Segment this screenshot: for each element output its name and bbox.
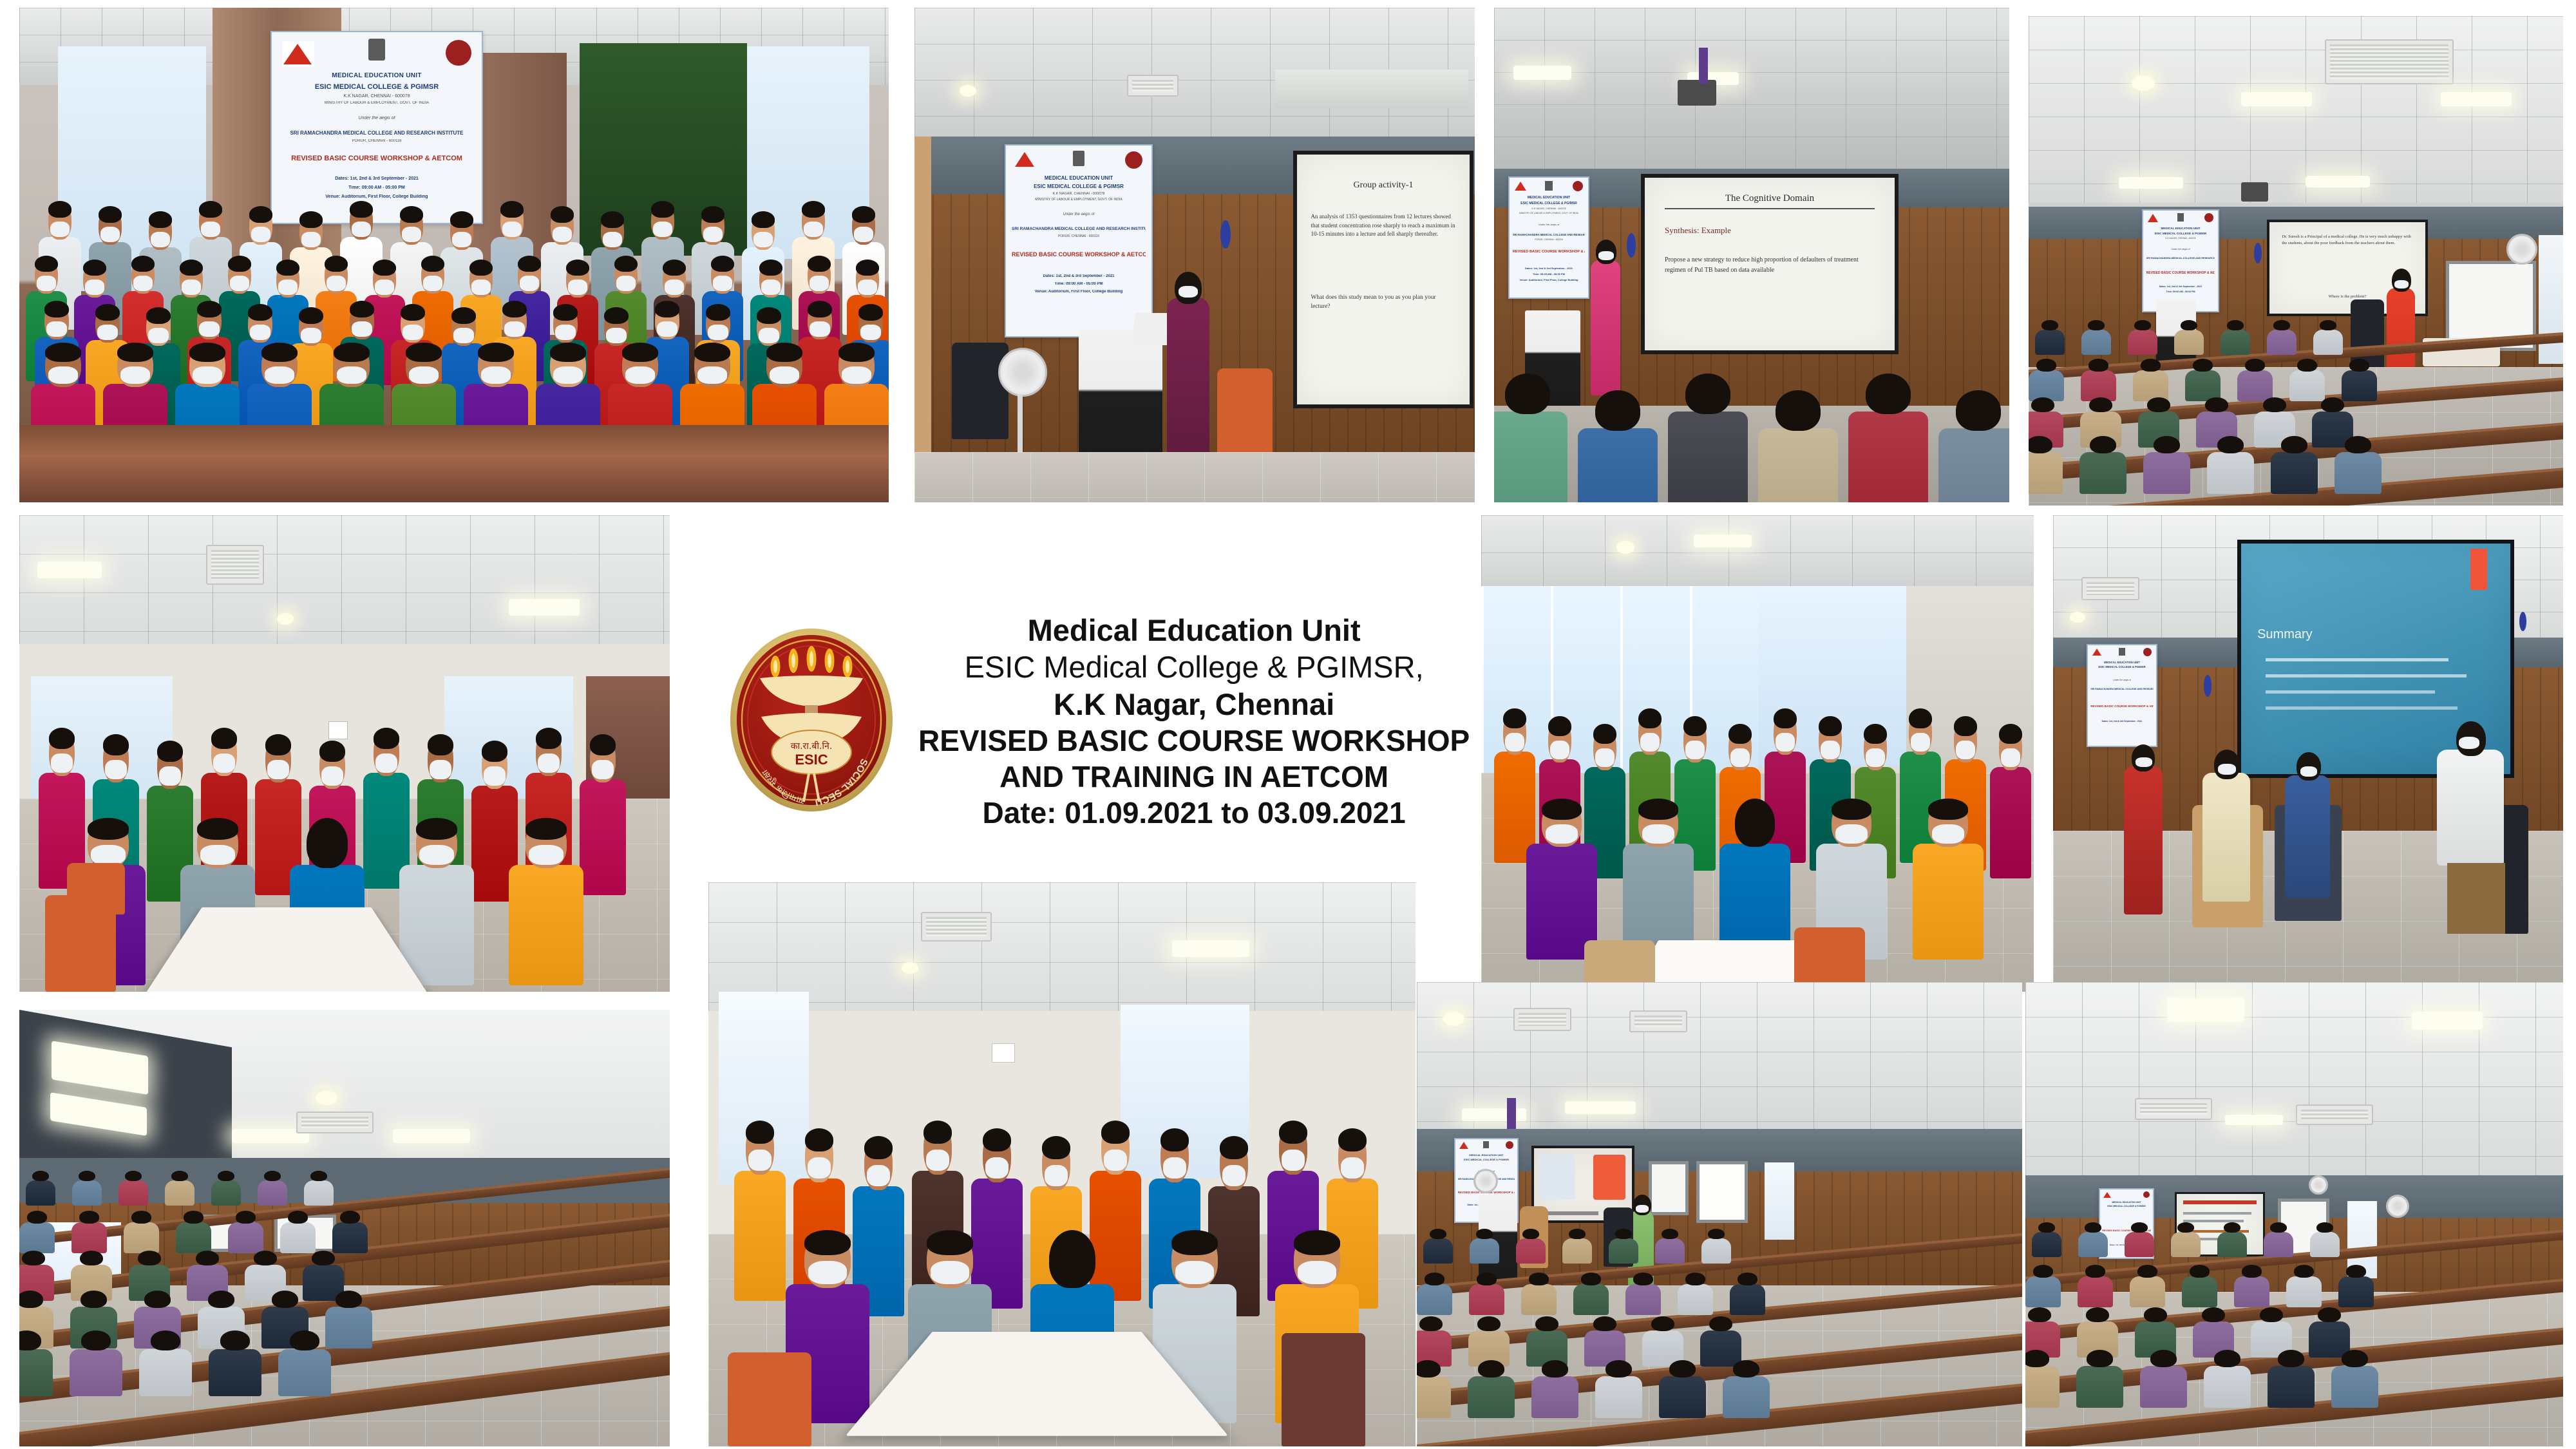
slide-question: What does this study mean to you as you … xyxy=(1311,293,1455,312)
person-head xyxy=(290,1331,319,1350)
face-mask xyxy=(520,276,538,290)
person-head xyxy=(2087,1350,2113,1367)
slide-body: An analysis of 1353 questionnaires from … xyxy=(1311,213,1455,239)
face-mask xyxy=(250,325,270,340)
face-mask xyxy=(538,753,559,773)
banner2-venue: Venue: Auditorium, First Floor, College … xyxy=(1012,290,1146,294)
person-head xyxy=(220,1331,250,1350)
person-figure xyxy=(2140,1366,2187,1408)
person-head xyxy=(1522,1229,1539,1239)
person-hair xyxy=(469,260,493,276)
person-figure xyxy=(2185,370,2221,401)
face-mask xyxy=(860,325,880,340)
person-head xyxy=(1615,1229,1632,1239)
banner3-dates: Dates: 1st, 2nd & 3rd September - 2021 xyxy=(1513,267,1585,270)
face-mask xyxy=(301,232,321,247)
banner2-org4: MINISTRY OF LABOUR & EMPLOYMENT, GOVT. O… xyxy=(1012,198,1146,202)
person-hair xyxy=(265,734,291,755)
person-hair xyxy=(1819,716,1842,736)
photo-small-group-discussion-2 xyxy=(1481,515,2034,992)
person-head xyxy=(2090,436,2116,453)
page-title: Medical Education Unit ESIC Medical Coll… xyxy=(918,612,1470,831)
person-figure xyxy=(2342,370,2377,401)
person-figure xyxy=(1469,1284,1504,1315)
person-head xyxy=(1956,390,2000,431)
person-head xyxy=(27,1211,47,1224)
person-head xyxy=(2316,1222,2333,1233)
person-hair xyxy=(103,734,129,755)
face-mask xyxy=(251,227,270,242)
person-hair xyxy=(428,734,453,755)
face-mask xyxy=(201,222,220,237)
face-mask xyxy=(375,279,393,294)
person-head xyxy=(2321,397,2344,412)
person-figure xyxy=(19,1349,53,1396)
person-head xyxy=(2036,359,2056,372)
person-head xyxy=(2342,1350,2368,1367)
person-head xyxy=(208,1291,234,1308)
face-mask xyxy=(708,325,728,340)
person-figure xyxy=(2313,330,2343,355)
banner2-time: Time: 09:00 AM - 05:00 PM xyxy=(1012,282,1146,286)
title-panel: का.रा.बी.नि. ESIC SOCIAL SECURITY सामाजि… xyxy=(715,560,1475,882)
person-head xyxy=(2193,359,2213,372)
title-line-3: K.K Nagar, Chennai xyxy=(918,686,1470,723)
banner6-org1: MEDICAL EDUCATION UNIT xyxy=(1458,1153,1515,1157)
title-line-4: REVISED BASIC COURSE WORKSHOP xyxy=(918,723,1470,759)
person-head xyxy=(1866,374,1910,414)
person-head xyxy=(2086,1307,2109,1322)
face-mask xyxy=(453,328,473,343)
person-hair xyxy=(852,206,876,223)
person-hair xyxy=(746,1121,775,1144)
person-figure xyxy=(2171,1232,2201,1257)
person-figure xyxy=(2331,1366,2378,1408)
face-mask xyxy=(133,276,152,290)
person-head xyxy=(236,1211,256,1224)
face-mask xyxy=(375,753,397,773)
person-hair xyxy=(95,304,120,321)
face-mask xyxy=(808,1261,847,1284)
person-figure xyxy=(2078,1276,2113,1307)
person-hair xyxy=(802,201,826,218)
person-head xyxy=(1529,1273,1549,1285)
face-mask xyxy=(858,279,876,294)
face-mask xyxy=(697,366,727,384)
person-head xyxy=(310,1171,327,1181)
face-mask xyxy=(854,227,873,242)
photo-small-group-discussion-1 xyxy=(19,515,670,992)
person-figure xyxy=(2237,370,2273,401)
person-head xyxy=(2270,1222,2287,1233)
person-hair xyxy=(421,256,444,272)
person-hair xyxy=(276,260,299,276)
face-mask xyxy=(423,276,442,290)
person-figure xyxy=(1609,1238,1638,1264)
slide-title-summary: Summary xyxy=(2257,627,2488,642)
event-banner-small-3: MEDICAL EDUCATION UNIT ESIC MEDICAL COLL… xyxy=(2142,209,2219,312)
face-mask xyxy=(1821,741,1839,759)
face-mask xyxy=(120,366,150,384)
person-hair xyxy=(500,201,524,218)
person-figure xyxy=(258,1180,287,1206)
person-hair xyxy=(1832,799,1871,820)
person-hair xyxy=(45,343,81,362)
person-hair xyxy=(604,307,629,324)
person-head xyxy=(2144,1307,2167,1322)
person-hair xyxy=(350,301,374,317)
face-mask xyxy=(804,222,823,237)
person-figure xyxy=(734,1171,786,1301)
face-mask xyxy=(327,276,345,290)
person-head xyxy=(2134,320,2151,330)
face-mask xyxy=(91,845,125,865)
face-mask xyxy=(1341,1157,1365,1179)
person-head xyxy=(1685,374,1730,414)
person-figure xyxy=(2130,1276,2165,1307)
person-head xyxy=(79,1171,95,1181)
face-mask xyxy=(1222,1165,1246,1187)
person-head xyxy=(1708,1229,1725,1239)
person-figure xyxy=(2268,1366,2315,1408)
person-figure xyxy=(2025,1366,2060,1408)
person-hair xyxy=(299,307,323,324)
person-figure xyxy=(1531,1376,1578,1418)
person-head xyxy=(196,1251,219,1265)
person-head xyxy=(1776,390,1820,431)
slide-bullet-cognitive: Propose a new strategy to reduce high pr… xyxy=(1665,255,1875,275)
face-mask xyxy=(148,328,168,343)
person-hair xyxy=(655,301,679,317)
banner2-org3: K.K NAGAR, CHENNAI - 600078 xyxy=(1012,192,1146,196)
face-mask xyxy=(603,232,622,247)
face-mask xyxy=(1546,824,1578,844)
person-figure xyxy=(1659,1376,1706,1418)
banner3-aegis: Under the aegis of xyxy=(1513,223,1585,226)
face-mask xyxy=(419,845,453,865)
face-mask xyxy=(193,366,222,384)
person-hair xyxy=(249,206,273,223)
person-head xyxy=(2260,1307,2283,1322)
face-mask xyxy=(810,276,828,290)
face-mask xyxy=(337,366,366,384)
banner4-org2: ESIC MEDICAL COLLEGE & PGIMSR xyxy=(2146,232,2215,235)
face-mask xyxy=(151,232,170,247)
person-hair xyxy=(325,256,348,272)
person-head xyxy=(2281,436,2307,453)
person-figure xyxy=(1668,412,1748,502)
person-hair xyxy=(211,728,237,749)
person-head xyxy=(1605,1360,1632,1378)
banner2-aegis2: PORUR, CHENNAI - 600116 xyxy=(1012,234,1146,238)
title-line-6: Date: 01.09.2021 to 03.09.2021 xyxy=(918,795,1470,831)
person-figure xyxy=(26,1180,55,1206)
event-banner-small: MEDICAL EDUCATION UNIT ESIC MEDICAL COLL… xyxy=(1005,144,1153,337)
person-head xyxy=(2297,359,2317,372)
photo-group-photo-participants: MEDICAL EDUCATION UNIT ESIC MEDICAL COLL… xyxy=(19,8,889,502)
person-figure xyxy=(1417,1284,1452,1315)
person-hair xyxy=(766,343,802,362)
face-mask xyxy=(352,222,371,237)
person-figure xyxy=(1913,844,1984,960)
person-figure xyxy=(325,1307,372,1349)
person-head xyxy=(2245,359,2265,372)
person-figure xyxy=(2125,1232,2154,1257)
person-hair xyxy=(373,260,396,276)
face-mask xyxy=(653,222,672,237)
person-hair xyxy=(663,260,686,276)
person-hair xyxy=(1220,1136,1249,1159)
person-hair xyxy=(550,343,586,362)
face-mask xyxy=(265,366,294,384)
face-mask xyxy=(1835,824,1868,844)
person-head xyxy=(2177,1222,2194,1233)
person-head xyxy=(2318,1307,2341,1322)
person-head xyxy=(81,1331,111,1350)
person-hair xyxy=(551,206,574,223)
person-head xyxy=(272,1291,298,1308)
person-head xyxy=(336,1291,362,1308)
title-line-2: ESIC Medical College & PGIMSR, xyxy=(918,649,1470,685)
person-head xyxy=(254,1251,277,1265)
person-head xyxy=(1419,1316,1443,1331)
person-figure xyxy=(280,1222,316,1253)
person-figure xyxy=(2221,330,2250,355)
person-figure xyxy=(1700,1331,1741,1367)
face-mask xyxy=(321,766,343,786)
person-figure xyxy=(1678,1284,1713,1315)
person-figure xyxy=(2182,1276,2217,1307)
person-hair xyxy=(1101,1121,1130,1144)
banner5-org2: ESIC MEDICAL COLLEGE & PGIMSR xyxy=(2090,665,2154,668)
face-mask xyxy=(159,766,180,786)
face-mask xyxy=(1911,733,1929,752)
person-head xyxy=(1477,1273,1497,1285)
person-head xyxy=(2041,320,2058,330)
person-head xyxy=(307,818,348,868)
face-mask xyxy=(213,753,234,773)
person-head xyxy=(2294,1265,2314,1278)
face-mask xyxy=(51,753,72,773)
person-hair xyxy=(502,301,527,317)
person-hair xyxy=(706,304,730,321)
person-head xyxy=(151,1331,180,1350)
person-head xyxy=(2031,397,2054,412)
person-figure xyxy=(139,1349,192,1396)
banner4-aegis1: SRI RAMACHANDRA MEDICAL COLLEGE AND RESE… xyxy=(2146,257,2215,260)
person-hair xyxy=(1638,799,1678,820)
person-hair xyxy=(711,256,734,272)
face-mask xyxy=(553,366,583,384)
person-hair xyxy=(401,304,425,321)
person-figure xyxy=(2079,452,2126,494)
photo-lecture-hall-session-2: MEDICAL EDUCATION UNIT ESIC MEDICAL COLL… xyxy=(1417,982,2022,1446)
person-figure xyxy=(1417,1376,1451,1418)
person-hair xyxy=(1683,716,1707,736)
person-figure xyxy=(2035,330,2065,355)
person-hair xyxy=(858,304,883,321)
person-figure xyxy=(1494,412,1567,502)
face-mask xyxy=(352,321,372,337)
slide-title-cognitive: The Cognitive Domain xyxy=(1665,193,1875,209)
banner3-org2: ESIC MEDICAL COLLEGE & PGIMSR xyxy=(1513,202,1585,205)
title-line-5: AND TRAINING IN AETCOM xyxy=(918,759,1470,795)
photo-lecture-hall-facilitator: MEDICAL EDUCATION UNIT ESIC MEDICAL COLL… xyxy=(2029,16,2563,506)
person-hair xyxy=(180,260,203,276)
banner3-aegis2: PORUR, CHENNAI - 600116 xyxy=(1513,238,1585,241)
person-hair xyxy=(48,201,72,218)
face-mask xyxy=(1505,733,1524,752)
person-head xyxy=(2278,1350,2304,1367)
slide-title: Group activity-1 xyxy=(1311,180,1455,191)
person-head xyxy=(1505,374,1549,414)
person-figure xyxy=(1990,767,2031,878)
person-figure xyxy=(2310,1232,2340,1257)
person-figure xyxy=(1595,1376,1642,1418)
person-figure xyxy=(2143,452,2190,494)
person-figure xyxy=(124,1222,159,1253)
photo-lecture-hall-session-3: MEDICAL EDUCATION UNIT ESIC MEDICAL COLL… xyxy=(2025,982,2563,1446)
photo-summary-session: MEDICAL EDUCATION UNIT ESIC MEDICAL COLL… xyxy=(2053,515,2563,992)
banner7-org2: ESIC MEDICAL COLLEGE & PGIMSR xyxy=(2102,1205,2150,1207)
face-mask xyxy=(1932,824,1965,844)
person-hair xyxy=(518,256,541,272)
person-hair xyxy=(614,256,638,272)
person-head xyxy=(2214,1350,2240,1367)
person-head xyxy=(79,1211,99,1224)
person-figure xyxy=(2025,1276,2061,1307)
person-hair xyxy=(805,1128,834,1151)
person-head xyxy=(2147,397,2170,412)
face-mask xyxy=(931,1261,969,1284)
person-hair xyxy=(923,1121,952,1144)
person-figure xyxy=(2078,1232,2108,1257)
person-head xyxy=(2029,436,2052,453)
esic-hindi-acronym: का.रा.बी.नि. xyxy=(791,741,833,752)
person-head xyxy=(2150,1350,2177,1367)
person-hair xyxy=(374,728,399,749)
person-figure xyxy=(70,1349,122,1396)
face-mask xyxy=(1640,733,1659,752)
person-hair xyxy=(83,260,106,276)
person-head xyxy=(125,1171,142,1181)
person-figure xyxy=(228,1222,263,1253)
face-mask xyxy=(1298,1261,1336,1284)
person-hair xyxy=(759,260,782,276)
person-head xyxy=(1478,1360,1504,1378)
person-hair xyxy=(1909,708,1932,728)
person-head xyxy=(288,1211,308,1224)
person-hair xyxy=(804,1230,851,1255)
face-mask xyxy=(452,232,471,247)
banner2-org1: MEDICAL EDUCATION UNIT xyxy=(1012,175,1146,181)
face-mask xyxy=(625,366,655,384)
face-mask xyxy=(1550,741,1569,759)
face-mask xyxy=(657,321,677,337)
person-head xyxy=(1593,1316,1616,1331)
person-head xyxy=(312,1251,335,1265)
banner2-aegis: Under the aegis of xyxy=(1012,213,1146,216)
banner4-org1: MEDICAL EDUCATION UNIT xyxy=(2146,227,2215,230)
person-head xyxy=(1477,1316,1501,1331)
face-mask xyxy=(867,1165,891,1187)
esic-logo: का.रा.बी.नि. ESIC SOCIAL SECURITY सामाजि… xyxy=(728,627,895,817)
person-hair xyxy=(450,211,474,228)
face-mask xyxy=(665,279,683,294)
banner5-aegis: Under the aegis of xyxy=(2090,679,2154,681)
person-hair xyxy=(261,343,298,362)
photo-auditorium-wide-view xyxy=(19,1010,670,1446)
face-mask xyxy=(402,227,421,242)
banner5-title: REVISED BASIC COURSE WORKSHOP & AETCOM xyxy=(2090,705,2154,708)
face-mask xyxy=(199,321,219,337)
person-hair xyxy=(808,301,832,317)
person-hair xyxy=(694,343,730,362)
face-mask xyxy=(2001,748,2020,767)
person-hair xyxy=(400,206,424,223)
face-mask xyxy=(85,279,104,294)
person-figure xyxy=(1938,428,2009,502)
person-figure xyxy=(2286,1276,2322,1307)
person-head xyxy=(2025,1350,2049,1367)
face-mask xyxy=(703,227,723,242)
person-figure xyxy=(1468,1376,1515,1418)
person-hair xyxy=(1160,1128,1189,1151)
person-hair xyxy=(149,211,173,228)
person-hair xyxy=(622,343,658,362)
person-hair xyxy=(319,741,345,762)
person-figure xyxy=(19,1222,55,1253)
person-head xyxy=(1417,1360,1441,1378)
person-hair xyxy=(406,343,442,362)
person-figure xyxy=(2081,370,2116,401)
person-head xyxy=(144,1291,171,1308)
face-mask xyxy=(770,366,799,384)
person-head xyxy=(2085,1222,2101,1233)
person-head xyxy=(340,1211,360,1224)
face-mask xyxy=(1282,1150,1305,1171)
face-mask xyxy=(1730,748,1749,767)
person-head xyxy=(2085,1265,2105,1278)
person-head xyxy=(1662,1229,1678,1239)
banner4-time: Time: 09:00 AM - 05:00 PM xyxy=(2146,290,2215,293)
banner6-org2: ESIC MEDICAL COLLEGE & PGIMSR xyxy=(1458,1158,1515,1161)
person-hair xyxy=(197,301,222,317)
face-mask xyxy=(471,279,490,294)
person-hair xyxy=(482,741,507,762)
person-hair xyxy=(1774,708,1797,728)
face-mask xyxy=(481,366,511,384)
person-figure xyxy=(1848,412,1928,502)
person-hair xyxy=(228,256,251,272)
person-hair xyxy=(451,307,476,324)
face-mask xyxy=(46,321,66,337)
face-mask xyxy=(759,328,779,343)
person-hair xyxy=(1503,708,1526,728)
person-hair xyxy=(99,206,122,223)
person-figure xyxy=(509,865,583,985)
face-mask xyxy=(1685,741,1704,759)
banner3-org4: MINISTRY OF LABOUR & EMPLOYMENT, GOVT. O… xyxy=(1513,212,1585,214)
face-mask xyxy=(200,845,234,865)
person-hair xyxy=(1928,799,1968,820)
banner3-venue: Venue: Auditorium, First Floor, College … xyxy=(1513,278,1585,281)
person-figure xyxy=(2338,1276,2374,1307)
person-figure xyxy=(2217,1232,2247,1257)
person-head xyxy=(2181,320,2197,330)
person-figure xyxy=(2029,452,2063,494)
face-mask xyxy=(1163,1157,1187,1179)
